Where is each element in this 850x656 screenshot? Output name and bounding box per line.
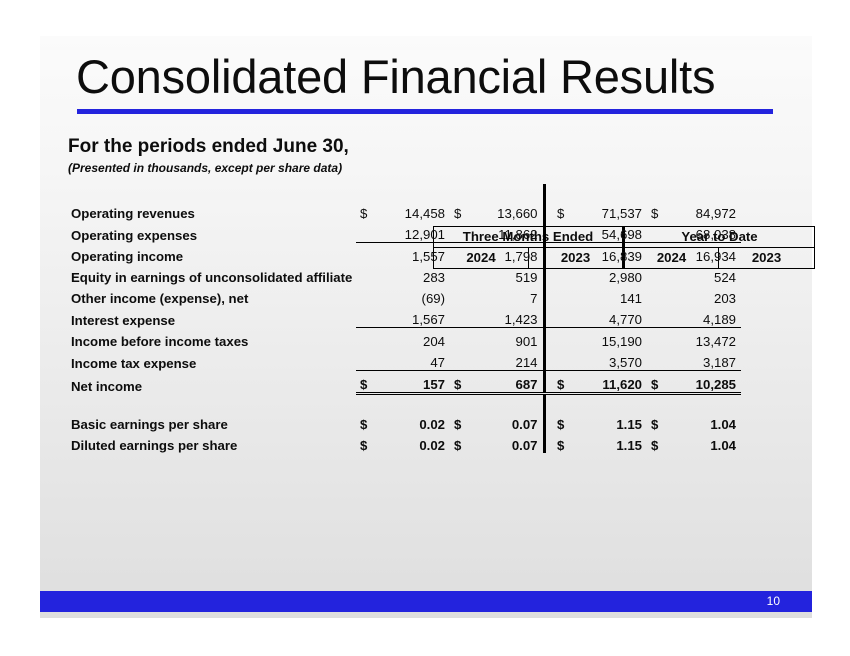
financial-table: Operating revenues $ 14,458 $ 13,660 $ 7… [40, 184, 741, 453]
cell-value: 2,980 [575, 264, 647, 285]
page-title: Consolidated Financial Results [76, 52, 715, 101]
page-number: 10 [767, 594, 780, 608]
cell-value: 1,798 [472, 243, 544, 265]
cell-value: 11,862 [472, 221, 544, 243]
cell-value: 1,423 [472, 306, 544, 328]
cell-value: 1.04 [669, 432, 741, 453]
cell-currency [553, 349, 575, 371]
financial-table-wrap: Operating revenues $ 14,458 $ 13,660 $ 7… [40, 184, 812, 453]
cell-value: 14,458 [378, 200, 450, 221]
cell-value: 13,660 [472, 200, 544, 221]
cell-value: 16,934 [669, 243, 741, 265]
cell-currency: $ [647, 432, 669, 453]
cell-value: 1.15 [575, 411, 647, 432]
cell-currency [553, 221, 575, 243]
cell-currency [553, 306, 575, 328]
footer-bar [40, 591, 812, 612]
cell-value: 0.02 [378, 432, 450, 453]
cell-currency: $ [450, 411, 472, 432]
cell-currency [450, 243, 472, 265]
row-label: Operating expenses [40, 221, 356, 243]
cell-value: 141 [575, 285, 647, 306]
cell-value: 1,557 [378, 243, 450, 265]
cell-currency [450, 349, 472, 371]
cell-value: 15,190 [575, 328, 647, 350]
table-row-total: Net income $ 157 $ 687 $ 11,620 $ 10,285 [40, 371, 741, 394]
cell-currency [356, 285, 378, 306]
cell-value: 12,901 [378, 221, 450, 243]
cell-currency [647, 306, 669, 328]
cell-currency [553, 328, 575, 350]
cell-currency: $ [553, 200, 575, 221]
cell-currency [356, 264, 378, 285]
cell-value: 204 [378, 328, 450, 350]
cell-value: (69) [378, 285, 450, 306]
cell-value: 11,620 [575, 371, 647, 394]
row-label: Diluted earnings per share [40, 432, 356, 453]
cell-currency [450, 306, 472, 328]
table-row: Basic earnings per share $ 0.02 $ 0.07 $… [40, 411, 741, 432]
cell-value: 16,839 [575, 243, 647, 265]
cell-currency [450, 285, 472, 306]
table-row: Other income (expense), net (69) 7 141 2… [40, 285, 741, 306]
row-label: Equity in earnings of unconsolidated aff… [40, 264, 356, 285]
cell-currency [450, 264, 472, 285]
cell-currency: $ [553, 371, 575, 394]
row-label: Income tax expense [40, 349, 356, 371]
cell-currency [647, 243, 669, 265]
cell-value: 519 [472, 264, 544, 285]
subtitle: For the periods ended June 30, [68, 136, 349, 158]
slide-canvas: Consolidated Financial Results For the p… [40, 36, 812, 618]
cell-value: 4,189 [669, 306, 741, 328]
cell-value: 47 [378, 349, 450, 371]
cell-currency: $ [647, 411, 669, 432]
cell-value: 524 [669, 264, 741, 285]
cell-currency [553, 264, 575, 285]
cell-currency [356, 221, 378, 243]
cell-currency [356, 349, 378, 371]
cell-value: 687 [472, 371, 544, 394]
cell-currency [356, 243, 378, 265]
cell-currency [647, 349, 669, 371]
cell-value: 3,570 [575, 349, 647, 371]
cell-currency [647, 328, 669, 350]
table-row: Income tax expense 47 214 3,570 3,187 [40, 349, 741, 371]
cell-currency: $ [356, 432, 378, 453]
cell-value: 1.04 [669, 411, 741, 432]
cell-currency: $ [356, 411, 378, 432]
row-label: Income before income taxes [40, 328, 356, 350]
cell-value: 0.02 [378, 411, 450, 432]
cell-value: 901 [472, 328, 544, 350]
table-row: Operating revenues $ 14,458 $ 13,660 $ 7… [40, 200, 741, 221]
cell-currency: $ [450, 200, 472, 221]
table-row: Operating income 1,557 1,798 16,839 16,9… [40, 243, 741, 265]
row-label: Other income (expense), net [40, 285, 356, 306]
row-label: Operating income [40, 243, 356, 265]
title-underline-rule [77, 109, 773, 114]
cell-currency: $ [647, 371, 669, 394]
cell-currency [553, 285, 575, 306]
cell-value: 68,038 [669, 221, 741, 243]
cell-value: 84,972 [669, 200, 741, 221]
cell-value: 54,698 [575, 221, 647, 243]
table-row: Diluted earnings per share $ 0.02 $ 0.07… [40, 432, 741, 453]
cell-currency: $ [450, 371, 472, 394]
cell-value: 0.07 [472, 411, 544, 432]
cell-value: 3,187 [669, 349, 741, 371]
cell-value: 4,770 [575, 306, 647, 328]
cell-currency: $ [553, 432, 575, 453]
eps-gap-row [40, 394, 741, 411]
cell-value: 10,285 [669, 371, 741, 394]
cell-currency [553, 243, 575, 265]
cell-currency: $ [450, 432, 472, 453]
cell-currency [647, 285, 669, 306]
cell-value: 0.07 [472, 432, 544, 453]
row-label: Net income [40, 371, 356, 394]
cell-value: 71,537 [575, 200, 647, 221]
cell-currency [647, 221, 669, 243]
cell-currency [450, 328, 472, 350]
table-row: Equity in earnings of unconsolidated aff… [40, 264, 741, 285]
cell-value: 7 [472, 285, 544, 306]
cell-currency: $ [553, 411, 575, 432]
cell-value: 1.15 [575, 432, 647, 453]
cell-currency [356, 328, 378, 350]
table-row: Operating expenses 12,901 11,862 54,698 … [40, 221, 741, 243]
row-label: Basic earnings per share [40, 411, 356, 432]
cell-currency: $ [647, 200, 669, 221]
cell-value: 1,567 [378, 306, 450, 328]
cell-currency: $ [356, 371, 378, 394]
cell-value: 157 [378, 371, 450, 394]
row-label: Operating revenues [40, 200, 356, 221]
row-label: Interest expense [40, 306, 356, 328]
table-row: Income before income taxes 204 901 15,19… [40, 328, 741, 350]
table-row: Interest expense 1,567 1,423 4,770 4,189 [40, 306, 741, 328]
cell-currency [450, 221, 472, 243]
cell-value: 214 [472, 349, 544, 371]
cell-currency: $ [356, 200, 378, 221]
subtitle-note: (Presented in thousands, except per shar… [68, 161, 342, 175]
cell-value: 203 [669, 285, 741, 306]
cell-value: 283 [378, 264, 450, 285]
cell-value: 13,472 [669, 328, 741, 350]
cell-currency [647, 264, 669, 285]
header-spacer-row [40, 184, 741, 200]
cell-currency [356, 306, 378, 328]
